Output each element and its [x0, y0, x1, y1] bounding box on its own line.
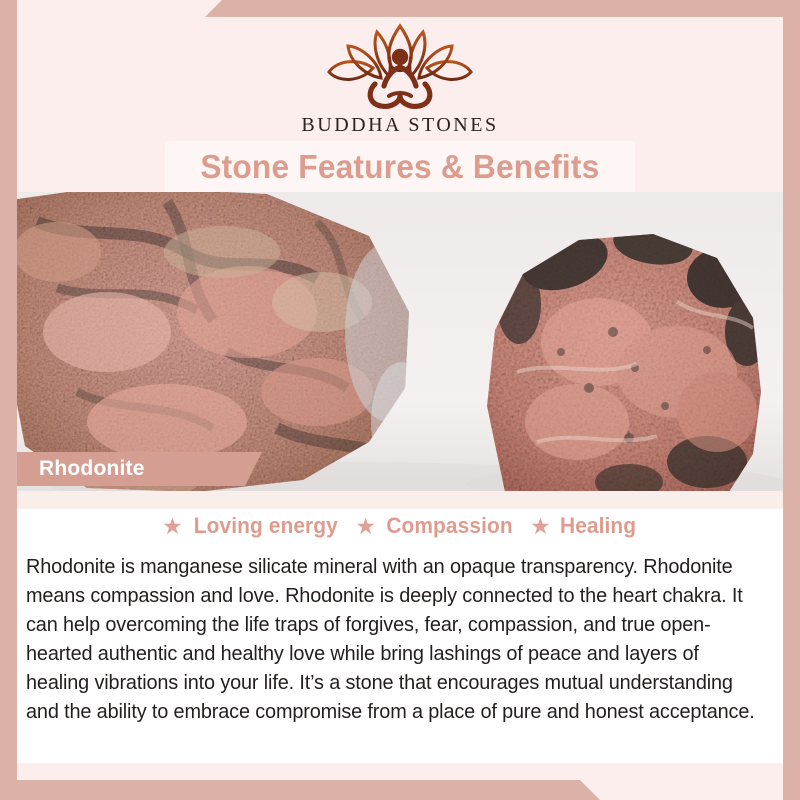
benefit-label: Compassion	[386, 513, 512, 539]
benefit-label: Healing	[560, 513, 636, 539]
brand-wordmark: BUDDHA STONES	[0, 114, 800, 137]
benefit-item: ★ Loving energy	[162, 513, 341, 539]
title-banner: Stone Features & Benefits	[165, 141, 635, 192]
star-icon: ★	[355, 515, 376, 538]
panel-top-tint	[17, 491, 783, 509]
stone-caption-tag: Rhodonite	[17, 452, 262, 486]
benefit-label: Loving energy	[194, 513, 338, 539]
lotus-meditation-figure-icon	[315, 20, 485, 112]
star-icon: ★	[162, 515, 183, 538]
stone-photo	[17, 192, 783, 491]
star-icon: ★	[530, 515, 551, 538]
benefit-item: ★ Compassion	[355, 513, 516, 539]
benefits-row: ★ Loving energy ★ Compassion ★ Healing	[17, 513, 783, 539]
stone-name: Rhodonite	[17, 457, 145, 481]
frame-band-bottom	[0, 780, 800, 800]
frame-band-top	[0, 0, 800, 17]
benefit-item: ★ Healing	[530, 513, 638, 539]
rhodonite-stones-illustration	[17, 192, 783, 491]
brand-logo-block: BUDDHA STONES	[0, 20, 800, 137]
stone-info-poster: BUDDHA STONES Stone Features & Benefits	[0, 0, 800, 800]
page-title: Stone Features & Benefits	[200, 148, 599, 186]
content-panel: ★ Loving energy ★ Compassion ★ Healing R…	[17, 491, 783, 763]
stone-description: Rhodonite is manganese silicate mineral …	[26, 553, 767, 727]
